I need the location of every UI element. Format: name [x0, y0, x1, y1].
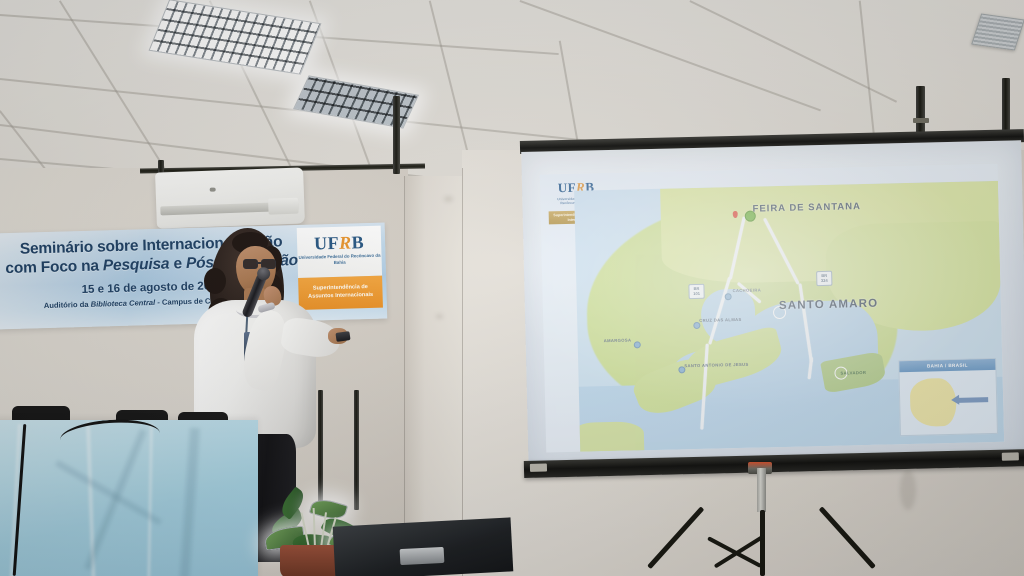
- recôncavo-map: FEIRA DE SANTANA SANTO AMARO CACHOEIRA C…: [574, 181, 1004, 452]
- ceiling-air-vent: [971, 13, 1024, 50]
- plant-pot: [280, 545, 338, 576]
- podium-name-plate: [400, 547, 445, 565]
- highway-shield-br101: BR101: [688, 284, 704, 299]
- ac-led-indicator: [210, 187, 216, 191]
- highway-shield-br324: BR324: [816, 271, 832, 286]
- map-label-cruz-das-almas: CRUZ DAS ALMAS: [699, 317, 742, 323]
- conduit-drop-2: [393, 96, 400, 174]
- map-label-santo-amaro: SANTO AMARO: [779, 298, 879, 312]
- map-inset-locator: BAHIA / BRASIL: [898, 358, 998, 436]
- ceiling-light-fixture-1: [149, 0, 322, 75]
- conference-photo-scene: Seminário sobre Internacionalização com …: [0, 0, 1024, 576]
- map-label-amargosa: AMARGOSA: [604, 338, 632, 344]
- presenter-glasses: [243, 259, 274, 267]
- wall-column: [404, 176, 464, 576]
- projection-screen: UFRB Universidade Federal do Recôncavo d…: [521, 140, 1024, 474]
- map-label-cachoeira: CACHOEIRA: [732, 287, 761, 293]
- map-label-salvador: SALVADOR: [840, 370, 866, 376]
- map-inset-arrow-icon: [958, 397, 988, 403]
- air-conditioner-unit: [155, 167, 305, 228]
- slide-content: UFRB Universidade Federal do Recôncavo d…: [540, 164, 1004, 453]
- map-inset-header: BAHIA / BRASIL: [899, 359, 995, 372]
- map-land-bottom-left: [574, 421, 644, 451]
- ceiling-light-fixture-2: [293, 75, 419, 128]
- tripod-center-post: [757, 468, 766, 512]
- presentation-clicker[interactable]: [335, 331, 350, 342]
- dark-podium: [333, 517, 514, 576]
- map-inset-state-shape: [910, 378, 957, 427]
